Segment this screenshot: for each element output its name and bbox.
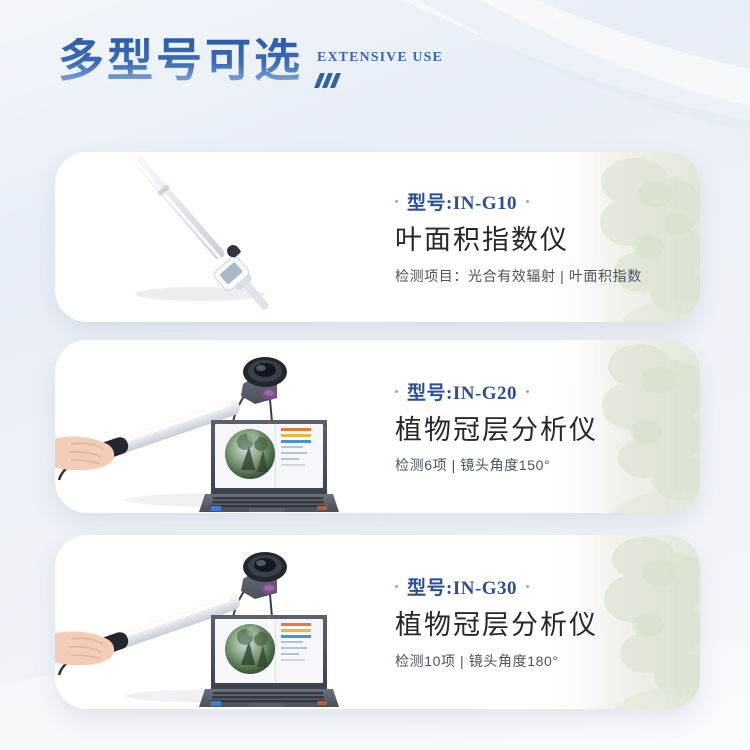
- slash-decoration-icon: [317, 73, 338, 88]
- product-image-canopy-analyzer: [55, 535, 385, 709]
- header-subtitle-group: EXTENSIVE USE: [317, 50, 443, 88]
- card-text-block: 型号:IN-G20 植物冠层分析仪 检测6项 | 镜头角度150°: [395, 340, 598, 513]
- product-name: 植物冠层分析仪: [395, 414, 598, 448]
- model-label-row: 型号:IN-G20: [395, 378, 598, 405]
- product-spec: 检测10项 | 镜头角度180°: [395, 651, 598, 671]
- bullet-dot-icon: [526, 200, 529, 203]
- model-label: 型号:IN-G10: [407, 188, 517, 215]
- product-name: 植物冠层分析仪: [395, 609, 598, 643]
- bullet-dot-icon: [395, 390, 398, 393]
- product-card[interactable]: 型号:IN-G20 植物冠层分析仪 检测6项 | 镜头角度150°: [55, 340, 700, 513]
- bullet-dot-icon: [526, 390, 529, 393]
- bullet-dot-icon: [395, 200, 398, 203]
- bullet-dot-icon: [526, 585, 529, 588]
- model-label-row: 型号:IN-G10: [395, 188, 642, 215]
- card-text-block: 型号:IN-G30 植物冠层分析仪 检测10项 | 镜头角度180°: [395, 535, 598, 709]
- model-label: 型号:IN-G20: [407, 378, 517, 405]
- page-subtitle-english: EXTENSIVE USE: [317, 50, 443, 66]
- product-image-canopy-analyzer: [55, 340, 385, 513]
- product-card[interactable]: 型号:IN-G30 植物冠层分析仪 检测10项 | 镜头角度180°: [55, 535, 700, 709]
- card-text-block: 型号:IN-G10 叶面积指数仪 检测项目：光合有效辐射 | 叶面积指数: [395, 152, 642, 322]
- model-label: 型号:IN-G30: [407, 573, 517, 600]
- product-card[interactable]: 型号:IN-G10 叶面积指数仪 检测项目：光合有效辐射 | 叶面积指数: [55, 152, 700, 322]
- model-label-row: 型号:IN-G30: [395, 573, 598, 600]
- product-name: 叶面积指数仪: [395, 224, 642, 258]
- page-header: 多型号可选 EXTENSIVE USE: [58, 38, 443, 88]
- product-spec: 检测项目：光合有效辐射 | 叶面积指数: [395, 266, 642, 286]
- product-image-wand-probe: [55, 152, 385, 322]
- product-spec: 检测6项 | 镜头角度150°: [395, 455, 598, 475]
- bullet-dot-icon: [395, 585, 398, 588]
- page-title: 多型号可选: [58, 38, 303, 84]
